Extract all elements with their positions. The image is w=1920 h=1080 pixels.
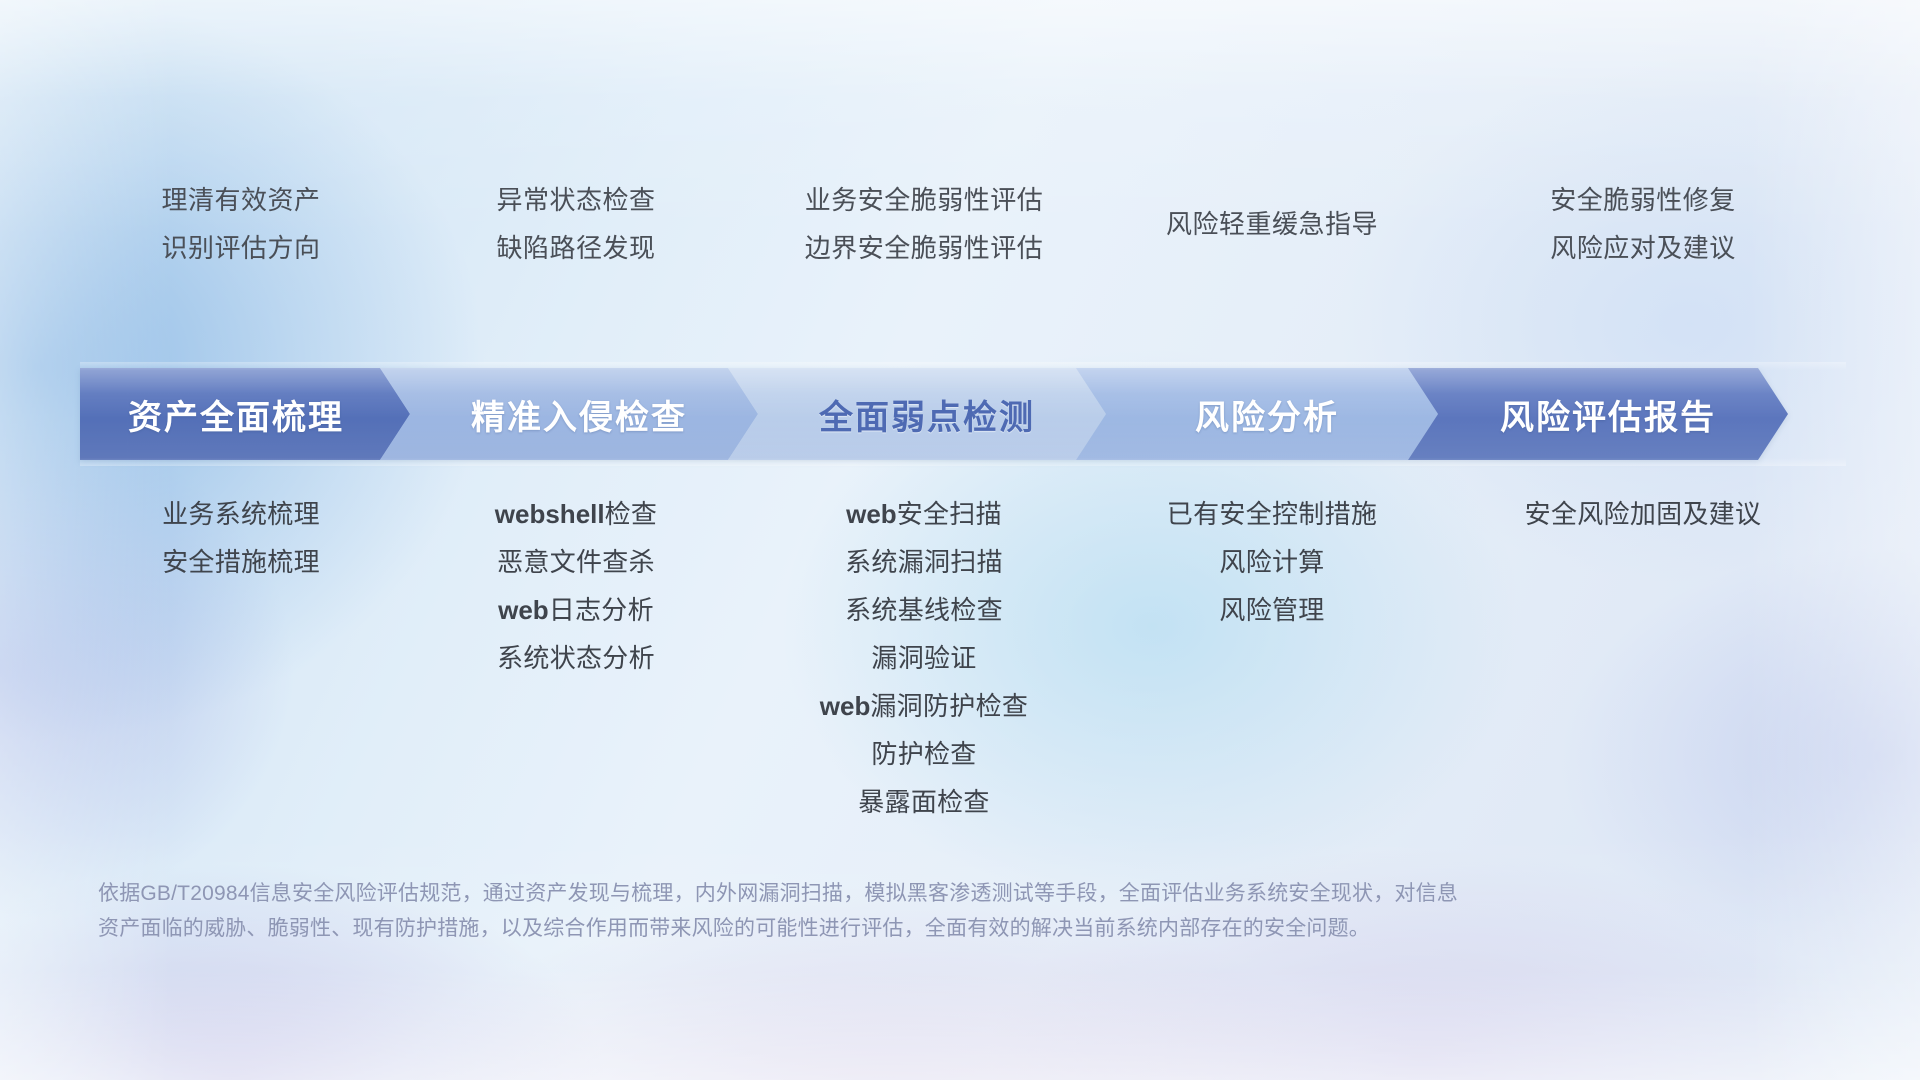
task-item-text: 风险计算 — [1219, 547, 1324, 577]
task-item: 安全风险加固及建议 — [1525, 490, 1762, 538]
task-item-text: 安全扫描 — [897, 499, 1002, 529]
outcomes-weakness-detection: 业务安全脆弱性评估 边界安全脆弱性评估 — [750, 170, 1098, 360]
task-item: 漏洞验证 — [871, 634, 976, 682]
stage-outcomes-row: 理清有效资产 识别评估方向 异常状态检查 缺陷路径发现 业务安全脆弱性评估 边界… — [80, 170, 1840, 360]
tasks-risk-analysis: 已有安全控制措施风险计算风险管理 — [1098, 490, 1446, 870]
task-item-text: 系统基线检查 — [845, 595, 1003, 625]
stage-tasks-row: 业务系统梳理安全措施梳理 webshell检查恶意文件查杀web日志分析系统状态… — [80, 490, 1840, 870]
task-item-prefix: web — [498, 595, 549, 625]
footer-description: 依据GB/T20984信息安全风险评估规范，通过资产发现与梳理，内外网漏洞扫描，… — [98, 876, 1718, 946]
task-item: 系统漏洞扫描 — [845, 538, 1003, 586]
outcome-note: 边界安全脆弱性评估 — [805, 224, 1044, 272]
outcomes-intrusion-check: 异常状态检查 缺陷路径发现 — [402, 170, 750, 360]
task-item-text: 系统漏洞扫描 — [845, 547, 1003, 577]
task-item-text: 恶意文件查杀 — [497, 547, 655, 577]
task-item-text: 防护检查 — [871, 739, 976, 769]
task-list: webshell检查恶意文件查杀web日志分析系统状态分析 — [402, 490, 750, 682]
task-item: web日志分析 — [498, 586, 654, 634]
task-list: web安全扫描系统漏洞扫描系统基线检查漏洞验证web漏洞防护检查防护检查暴露面检… — [750, 490, 1098, 826]
stage-arrow-label: 全面弱点检测 — [799, 390, 1035, 439]
task-item-text: 检查 — [605, 499, 658, 529]
task-item: 恶意文件查杀 — [497, 538, 655, 586]
task-item: 已有安全控制措施 — [1167, 490, 1377, 538]
stage-arrow-intrusion-check[interactable]: 精准入侵检查 — [380, 368, 758, 460]
task-item-text: 漏洞防护检查 — [870, 691, 1028, 721]
outcomes-asset-inventory: 理清有效资产 识别评估方向 — [80, 170, 402, 360]
task-item: 防护检查 — [871, 730, 976, 778]
tasks-assessment-report: 安全风险加固及建议 — [1446, 490, 1840, 870]
task-item: 风险计算 — [1219, 538, 1324, 586]
outcome-note: 风险轻重缓急指导 — [1166, 200, 1378, 248]
stage-arrow-weakness-detection[interactable]: 全面弱点检测 — [728, 368, 1106, 460]
process-arrow-band: 资产全面梳理 精准入侵检查 全面弱点检测 风险分析 风险评估报告 — [80, 368, 1846, 460]
stage-arrow-risk-analysis[interactable]: 风险分析 — [1076, 368, 1438, 460]
task-item: web安全扫描 — [846, 490, 1002, 538]
task-list: 安全风险加固及建议 — [1446, 490, 1840, 538]
task-item: 系统状态分析 — [497, 634, 655, 682]
stage-arrow-label: 资产全面梳理 — [128, 390, 362, 439]
outcomes-risk-analysis: 风险轻重缓急指导 — [1098, 170, 1446, 360]
stage-arrow-label: 风险评估报告 — [1480, 390, 1716, 439]
task-item-prefix: web — [846, 499, 897, 529]
stage-arrow-label: 精准入侵检查 — [451, 390, 687, 439]
outcome-note: 识别评估方向 — [161, 224, 320, 272]
task-item-text: 风险管理 — [1219, 595, 1324, 625]
tasks-weakness-detection: web安全扫描系统漏洞扫描系统基线检查漏洞验证web漏洞防护检查防护检查暴露面检… — [750, 490, 1098, 870]
task-item-text: 业务系统梳理 — [162, 499, 320, 529]
task-item: 系统基线检查 — [845, 586, 1003, 634]
task-item-text: 日志分析 — [549, 595, 654, 625]
tasks-asset-inventory: 业务系统梳理安全措施梳理 — [80, 490, 402, 870]
task-item: webshell检查 — [495, 490, 657, 538]
footer-line: 资产面临的威胁、脆弱性、现有防护措施，以及综合作用而带来风险的可能性进行评估，全… — [98, 911, 1718, 946]
task-item-text: 已有安全控制措施 — [1167, 499, 1377, 529]
task-item-text: 系统状态分析 — [497, 643, 655, 673]
outcomes-assessment-report: 安全脆弱性修复 风险应对及建议 — [1446, 170, 1840, 360]
tasks-intrusion-check: webshell检查恶意文件查杀web日志分析系统状态分析 — [402, 490, 750, 870]
stage-arrow-assessment-report[interactable]: 风险评估报告 — [1408, 368, 1788, 460]
task-item-text: 暴露面检查 — [858, 787, 990, 817]
outcome-note: 异常状态检查 — [496, 176, 655, 224]
task-item: 风险管理 — [1219, 586, 1324, 634]
outcome-note: 风险应对及建议 — [1550, 224, 1736, 272]
outcome-note: 缺陷路径发现 — [496, 224, 655, 272]
task-list: 业务系统梳理安全措施梳理 — [80, 490, 402, 586]
task-item-prefix: webshell — [495, 499, 605, 529]
stage-arrow-asset-inventory[interactable]: 资产全面梳理 — [80, 368, 410, 460]
outcome-note: 理清有效资产 — [161, 176, 320, 224]
task-item: web漏洞防护检查 — [820, 682, 1028, 730]
stage-arrow-label: 风险分析 — [1175, 390, 1339, 439]
task-item: 暴露面检查 — [858, 778, 990, 826]
task-item: 安全措施梳理 — [162, 538, 320, 586]
task-list: 已有安全控制措施风险计算风险管理 — [1098, 490, 1446, 634]
task-item-text: 安全风险加固及建议 — [1525, 499, 1762, 529]
task-item: 业务系统梳理 — [162, 490, 320, 538]
outcome-note: 安全脆弱性修复 — [1550, 176, 1736, 224]
slide-canvas: 理清有效资产 识别评估方向 异常状态检查 缺陷路径发现 业务安全脆弱性评估 边界… — [0, 0, 1920, 1080]
outcome-note: 业务安全脆弱性评估 — [805, 176, 1044, 224]
task-item-prefix: web — [820, 691, 871, 721]
task-item-text: 安全措施梳理 — [162, 547, 320, 577]
footer-line: 依据GB/T20984信息安全风险评估规范，通过资产发现与梳理，内外网漏洞扫描，… — [98, 876, 1718, 911]
task-item-text: 漏洞验证 — [871, 643, 976, 673]
